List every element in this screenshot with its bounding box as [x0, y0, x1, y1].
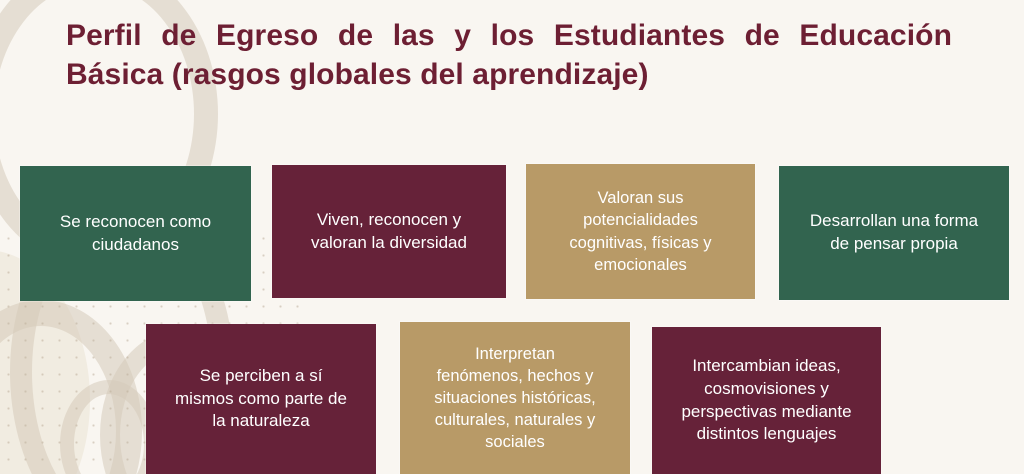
concept-box-label: Se perciben a sí mismos como parte de la… — [175, 365, 347, 433]
concept-box-label: Valoran sus potencialidades cognitivas, … — [569, 187, 711, 275]
slide-canvas: Perfil de Egreso de las y los Estudiante… — [0, 0, 1024, 474]
concept-box-label: Intercambian ideas, cosmovisiones y pers… — [681, 355, 851, 446]
concept-box-intercambian-ideas[interactable]: Intercambian ideas, cosmovisiones y pers… — [652, 327, 881, 474]
page-title: Perfil de Egreso de las y los Estudiante… — [66, 16, 952, 94]
concept-box-label: Desarrollan una forma de pensar propia — [810, 210, 978, 256]
concept-box-interpretan-fenomenos[interactable]: Interpretan fenómenos, hechos y situacio… — [400, 322, 630, 474]
concept-box-se-reconocen-como-ciudadanos[interactable]: Se reconocen como ciudadanos — [20, 166, 251, 301]
concept-box-label: Viven, reconocen y valoran la diversidad — [311, 209, 467, 255]
concept-box-label: Se reconocen como ciudadanos — [60, 211, 211, 257]
concept-box-desarrollan-forma-pensar-propia[interactable]: Desarrollan una forma de pensar propia — [779, 166, 1009, 300]
concept-box-viven-reconocen-valoran-diversidad[interactable]: Viven, reconocen y valoran la diversidad — [272, 165, 506, 298]
concept-box-valoran-potencialidades[interactable]: Valoran sus potencialidades cognitivas, … — [526, 164, 755, 299]
concept-box-se-perciben-parte-naturaleza[interactable]: Se perciben a sí mismos como parte de la… — [146, 324, 376, 474]
concept-box-label: Interpretan fenómenos, hechos y situacio… — [434, 343, 595, 454]
